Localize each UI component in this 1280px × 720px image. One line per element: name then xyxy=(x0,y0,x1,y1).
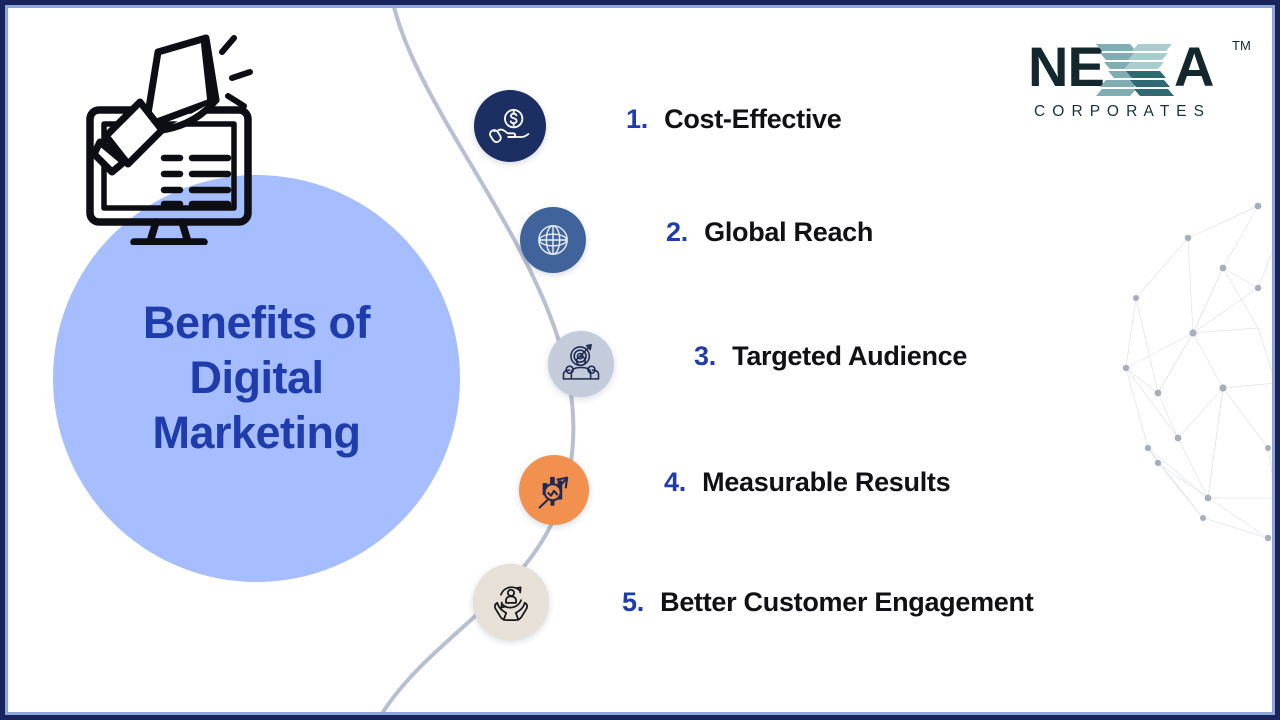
benefit-label-3: 3. Targeted Audience xyxy=(694,341,967,372)
logo-wordmark-right: A xyxy=(1174,35,1214,98)
benefit-label-5: 5. Better Customer Engagement xyxy=(622,587,1033,618)
benefit-title-3: Targeted Audience xyxy=(732,341,967,371)
infographic-page: Benefits of Digital Marketing xyxy=(8,8,1272,712)
benefit-title-4: Measurable Results xyxy=(702,467,950,497)
infographic-canvas: Benefits of Digital Marketing xyxy=(0,0,1280,720)
benefit-number-4: 4. xyxy=(664,467,686,497)
network-mesh-decoration xyxy=(1118,198,1272,548)
benefit-label-1: 1. Cost-Effective xyxy=(626,104,841,135)
benefit-number-1: 1. xyxy=(626,104,648,134)
logo-x-stripes xyxy=(1096,44,1174,96)
benefit-badge-3 xyxy=(548,331,614,397)
benefit-number-5: 5. xyxy=(622,587,644,617)
benefit-badge-4 xyxy=(519,455,589,525)
target-audience-icon xyxy=(560,343,602,385)
benefit-badge-1 xyxy=(474,90,546,162)
hands-customer-care-icon xyxy=(489,580,533,624)
benefit-label-2: 2. Global Reach xyxy=(666,217,873,248)
hand-holding-dollar-icon xyxy=(488,104,532,148)
benefit-badge-5 xyxy=(473,564,549,640)
logo-trademark: TM xyxy=(1232,38,1251,53)
benefit-title-5: Better Customer Engagement xyxy=(660,587,1033,617)
monitor-megaphone-icon xyxy=(76,30,276,245)
analytics-magnifier-icon xyxy=(533,469,575,511)
benefit-number-2: 2. xyxy=(666,217,688,247)
logo-wordmark-left: NE xyxy=(1028,35,1104,98)
benefit-badge-2 xyxy=(520,207,586,273)
globe-grid-icon xyxy=(533,220,573,260)
benefit-number-3: 3. xyxy=(694,341,716,371)
benefit-label-4: 4. Measurable Results xyxy=(664,467,950,498)
brand-logo: NE xyxy=(1026,30,1254,122)
benefit-title-2: Global Reach xyxy=(704,217,873,247)
logo-tagline: C O R P O R A T E S xyxy=(1034,103,1205,120)
benefit-title-1: Cost-Effective xyxy=(664,104,841,134)
